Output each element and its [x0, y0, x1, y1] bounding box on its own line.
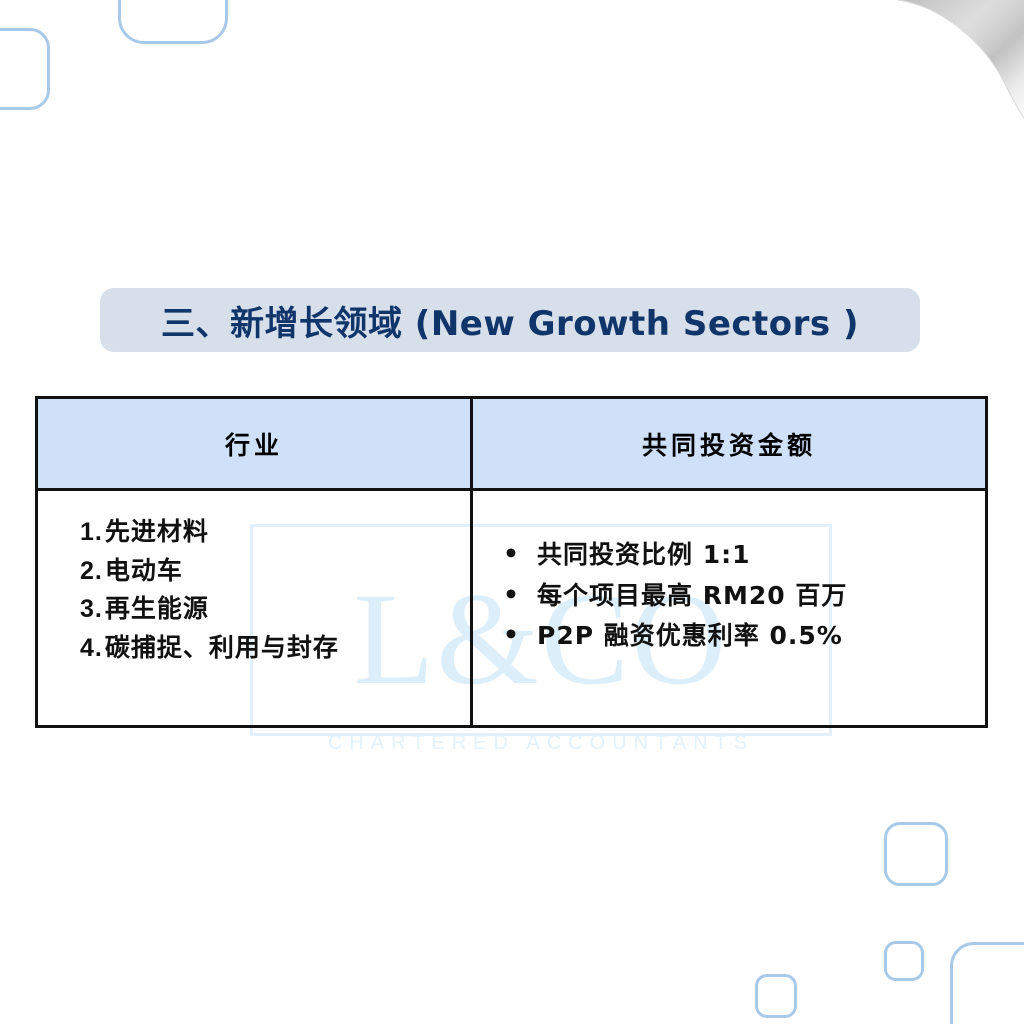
page-title: 三、新增长领域 (New Growth Sectors )	[161, 296, 859, 345]
watermark-subtitle: CHARTERED ACCOUNTANTS	[328, 732, 754, 755]
table-header-label-investment: 共同投资金额	[473, 399, 985, 488]
decorative-rounded-square-top-left-large	[118, 0, 228, 44]
decorative-rounded-square-bottom-right-small	[884, 941, 924, 981]
page-curl-decoration	[888, 0, 1024, 122]
sector-label: 再生能源	[105, 594, 209, 623]
list-item: 共同投资比例 1:1	[491, 535, 985, 576]
sector-label: 碳捕捉、利用与封存	[105, 633, 339, 662]
sector-number: 2.	[80, 557, 103, 585]
list-item: 2.电动车	[80, 552, 470, 591]
list-item: 每个项目最高 RM20 百万	[491, 576, 985, 617]
table-header-label-industry: 行业	[38, 399, 470, 488]
sector-number: 4.	[80, 634, 103, 662]
table-header-cell-investment: 共同投资金额	[473, 399, 985, 488]
decorative-rounded-square-bottom-right-large	[884, 822, 948, 886]
decorative-rounded-square-bottom-corner-small	[755, 974, 797, 1018]
table-header-row: 行业 共同投资金额	[38, 399, 985, 491]
sector-label: 先进材料	[105, 517, 209, 546]
table-cell-investment-list: 共同投资比例 1:1 每个项目最高 RM20 百万 P2P 融资优惠利率 0.5…	[473, 491, 985, 725]
table-cell-industry-list: 1.先进材料 2.电动车 3.再生能源 4.碳捕捉、利用与封存	[38, 491, 473, 725]
list-item: 4.碳捕捉、利用与封存	[80, 629, 470, 668]
table-header-cell-industry: 行业	[38, 399, 473, 488]
sector-label: 电动车	[105, 556, 183, 585]
list-item: 1.先进材料	[80, 513, 470, 552]
slide-title-band: 三、新增长领域 (New Growth Sectors )	[100, 288, 920, 352]
sector-list: 1.先进材料 2.电动车 3.再生能源 4.碳捕捉、利用与封存	[38, 513, 470, 667]
growth-sectors-table: 行业 共同投资金额 1.先进材料 2.电动车 3.再生能源 4.碳捕捉、利用与封…	[35, 396, 988, 728]
sector-number: 1.	[80, 518, 103, 546]
decorative-rounded-rect-bottom-right-edge	[950, 942, 1024, 1024]
slide-canvas: 三、新增长领域 (New Growth Sectors ) L&CO CHART…	[0, 0, 1024, 1024]
table-body-row: 1.先进材料 2.电动车 3.再生能源 4.碳捕捉、利用与封存 共同投资比例 1…	[38, 491, 985, 725]
investment-bullet-list: 共同投资比例 1:1 每个项目最高 RM20 百万 P2P 融资优惠利率 0.5…	[473, 513, 985, 657]
list-item: P2P 融资优惠利率 0.5%	[491, 616, 985, 657]
list-item: 3.再生能源	[80, 590, 470, 629]
sector-number: 3.	[80, 595, 103, 623]
decorative-rounded-square-top-left-small	[0, 28, 50, 110]
